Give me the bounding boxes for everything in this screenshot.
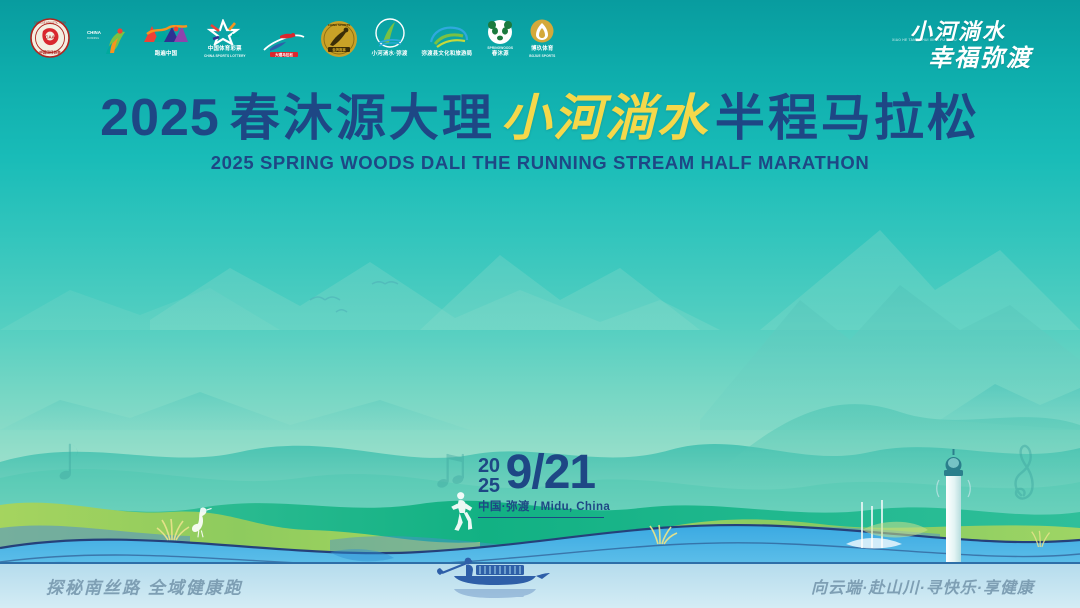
title-chinese-highlight: 小河淌水 — [501, 93, 709, 143]
green-round-icon — [373, 18, 407, 50]
star-multi-icon — [205, 19, 245, 45]
title-year: 2025 — [100, 92, 220, 144]
sponsor-caption-en: SPRINGWOODS — [487, 46, 513, 50]
runner-color-icon: CHINA RUNNING — [84, 25, 128, 57]
date-month-day: 9/21 — [506, 452, 595, 494]
sponsor-logo-bojue-sports[interactable]: 博玖体育 BOJUE SPORTS — [528, 19, 556, 58]
date-year-bottom: 25 — [478, 477, 500, 497]
svg-text:中国田径协会: 中国田径协会 — [39, 50, 61, 55]
title-chinese-part2: 半程马拉松 — [715, 93, 980, 143]
rowing-boat-illustration — [432, 553, 552, 606]
sponsor-caption: 中国体育彩票 — [208, 46, 242, 53]
svg-text:CHINA: CHINA — [87, 30, 102, 35]
sponsor-logo-xiaohetangshui-midu[interactable]: 小河淌水·弥渡 — [372, 18, 408, 58]
sponsor-caption: 春沐源 — [492, 51, 509, 58]
brand-calligraphy: XIAO HE TANG SHUI XING FU MI DU 小河淌水 幸福弥… — [888, 12, 1058, 74]
green-swoosh-icon — [425, 22, 469, 50]
red-runner-icon: 大理马拉松 — [260, 30, 306, 58]
ribbon-multi-icon — [142, 20, 190, 50]
marathon-poster: CAA 中国田径协会 CHINESE ATHLETIC ASSN CHINA R… — [0, 0, 1080, 608]
sponsor-logo-midu-county[interactable]: 弥渡县文化和旅游局 — [422, 22, 473, 58]
sponsor-logo-china-athletic-association[interactable]: CAA 中国田径协会 CHINESE ATHLETIC ASSN — [30, 18, 70, 58]
calligraphy-line-2: 幸福弥渡 — [928, 38, 1032, 73]
slogan-left: 探秘南丝路 全域健康跑 — [46, 574, 243, 599]
rowing-boat-icon — [432, 553, 552, 601]
seal-red-icon: CAA 中国田径协会 CHINESE ATHLETIC ASSN — [30, 18, 70, 58]
svg-text:RUNNING: RUNNING — [87, 36, 99, 40]
date-year-top: 20 — [478, 457, 500, 477]
svg-text:CHINESE ATHLETIC ASSN: CHINESE ATHLETIC ASSN — [34, 21, 66, 25]
sponsor-caption: 弥渡县文化和旅游局 — [422, 51, 473, 58]
sponsor-logo-gold-seal-sports[interactable]: CHINA SPORTS 金牌赛事 — [320, 20, 358, 58]
sponsor-caption: 小河淌水·弥渡 — [372, 51, 408, 58]
event-title-english: 2025 SPRING WOODS DALI THE RUNNING STREA… — [0, 152, 1080, 174]
event-title-chinese: 2025 春沐源大理 小河淌水 半程马拉松 — [100, 92, 980, 144]
sponsor-caption: 博玖体育 — [531, 46, 554, 53]
title-block: 2025 春沐源大理 小河淌水 半程马拉松 2025 SPRING WOODS … — [0, 92, 1080, 174]
gold-circle-icon: CHINA SPORTS 金牌赛事 — [320, 20, 358, 58]
event-location: 中国·弥渡 / Midu, China — [478, 498, 604, 518]
date-year: 20 25 — [478, 452, 500, 496]
sponsor-caption-en: BOJUE SPORTS — [529, 54, 555, 58]
sponsor-logo-china-running[interactable]: CHINA RUNNING — [84, 25, 128, 58]
sponsor-logo-china-sports-lottery[interactable]: 中国体育彩票 CHINA SPORTS LOTTERY — [204, 19, 246, 58]
svg-text:大理马拉松: 大理马拉松 — [275, 52, 293, 57]
sponsor-logo-strip: CAA 中国田径协会 CHINESE ATHLETIC ASSN CHINA R… — [30, 18, 556, 58]
svg-text:金牌赛事: 金牌赛事 — [331, 47, 346, 52]
sponsor-logo-paobian-zhongguo[interactable]: 跑遍中国 — [142, 20, 190, 58]
slogan-right: 向云端·赴山川·寻快乐·享健康 — [811, 574, 1034, 598]
sponsor-caption-en: CHINA SPORTS LOTTERY — [204, 54, 246, 58]
gold-shield-icon — [528, 19, 556, 45]
sponsor-logo-springwoods[interactable]: SPRINGWOODS 春沐源 — [486, 19, 514, 58]
sponsor-caption: 跑遍中国 — [155, 51, 178, 58]
event-date-block: 20 25 9/21 中国·弥渡 / Midu, China — [478, 452, 604, 518]
title-chinese-part1: 春沐源大理 — [230, 93, 495, 143]
svg-text:CHINA SPORTS: CHINA SPORTS — [327, 23, 350, 27]
green-panda-icon — [486, 19, 514, 45]
date-row: 20 25 9/21 — [478, 452, 604, 496]
svg-text:CAA: CAA — [45, 35, 56, 40]
sponsor-logo-dali-sports[interactable]: 大理马拉松 — [260, 30, 306, 58]
